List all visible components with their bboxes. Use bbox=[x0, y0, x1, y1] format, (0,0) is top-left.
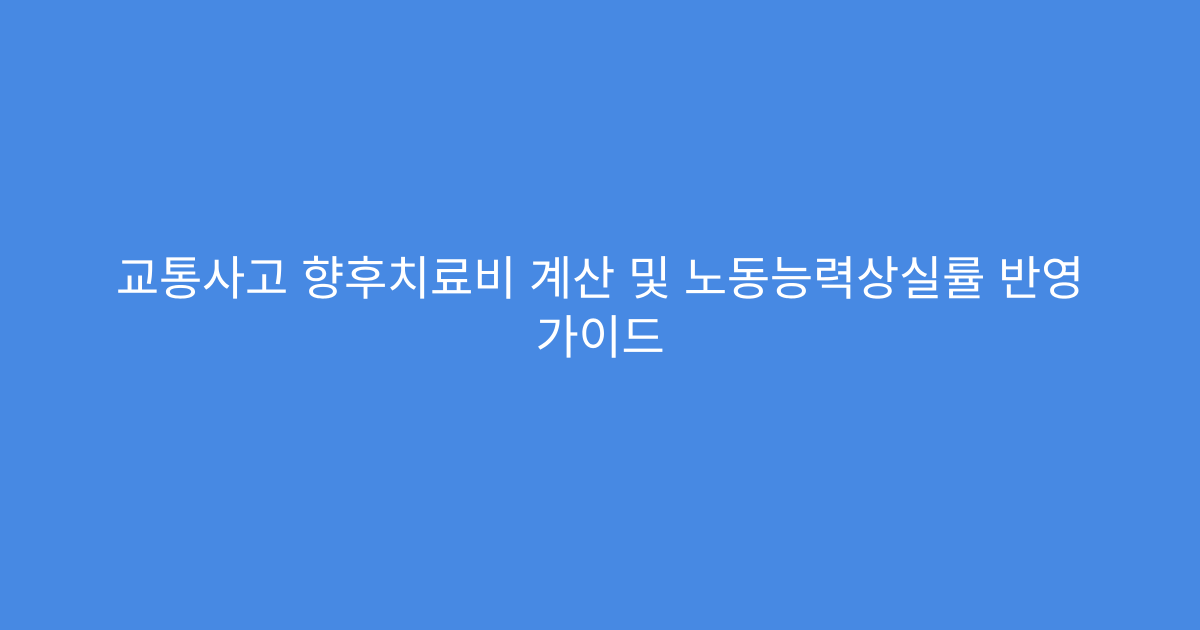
title-block: 교통사고 향후치료비 계산 및 노동능력상실률 반영 가이드 bbox=[0, 249, 1200, 367]
og-share-card: 교통사고 향후치료비 계산 및 노동능력상실률 반영 가이드 bbox=[0, 0, 1200, 630]
page-title: 교통사고 향후치료비 계산 및 노동능력상실률 반영 가이드 bbox=[56, 249, 1144, 367]
